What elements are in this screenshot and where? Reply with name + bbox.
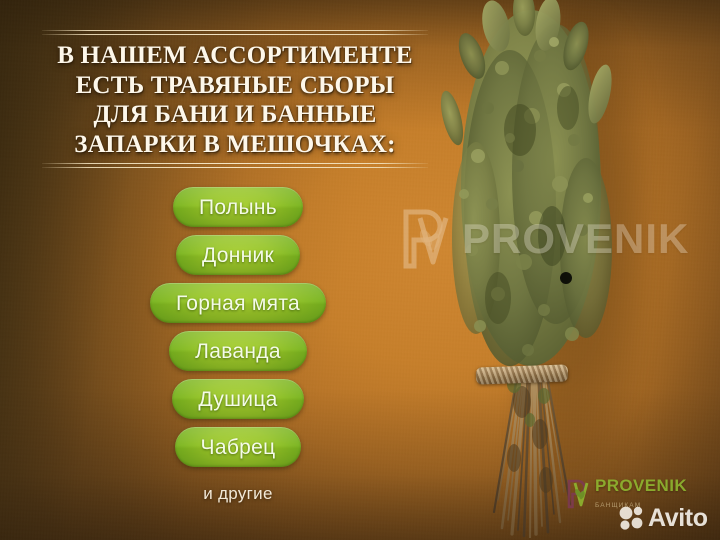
herb-pill-gornaya-myata[interactable]: Горная мята [150,283,326,323]
divider-bottom [42,163,428,169]
herb-pill-label: Горная мята [176,293,300,314]
avito-wordmark: Avito [648,506,708,531]
more-items-text: и другие [203,484,272,504]
herb-pill-label: Полынь [199,197,277,218]
herb-pill-label: Душица [198,389,277,410]
brand-name: PROVENIK [595,476,687,495]
herb-stems-icon [474,362,586,538]
herb-pill-label: Донник [202,245,274,266]
herb-pill-lavanda[interactable]: Лаванда [169,331,307,371]
herb-pill-dushitsa[interactable]: Душица [172,379,303,419]
headline-line-1: В НАШЕМ АССОРТИМЕНТЕ [28,41,442,71]
avito-dots-icon [618,506,644,530]
herb-twine-tie [476,364,569,384]
divider-top [42,30,428,36]
avito-badge[interactable]: Avito [618,503,708,533]
pv-monogram-small-icon [566,479,592,509]
herb-pill-label: Лаванда [195,341,281,362]
poster-canvas: В НАШЕМ АССОРТИМЕНТЕ ЕСТЬ ТРАВЯНЫЕ СБОРЫ… [0,0,720,540]
herb-pill-polyn[interactable]: Полынь [173,187,303,227]
page-title: В НАШЕМ АССОРТИМЕНТЕ ЕСТЬ ТРАВЯНЫЕ СБОРЫ… [28,41,442,159]
herb-pill-chabrets[interactable]: Чабрец [175,427,302,467]
herb-pill-donnik[interactable]: Донник [176,235,300,275]
headline-line-3: ДЛЯ БАНИ И БАННЫЕ [28,100,442,130]
herb-list: Полынь Донник Горная мята Лаванда Душица… [0,187,476,504]
herb-pill-label: Чабрец [201,437,276,458]
headline-line-4: ЗАПАРКИ В МЕШОЧКАХ: [28,130,442,160]
headline-line-2: ЕСТЬ ТРАВЯНЫЕ СБОРЫ [28,71,442,101]
